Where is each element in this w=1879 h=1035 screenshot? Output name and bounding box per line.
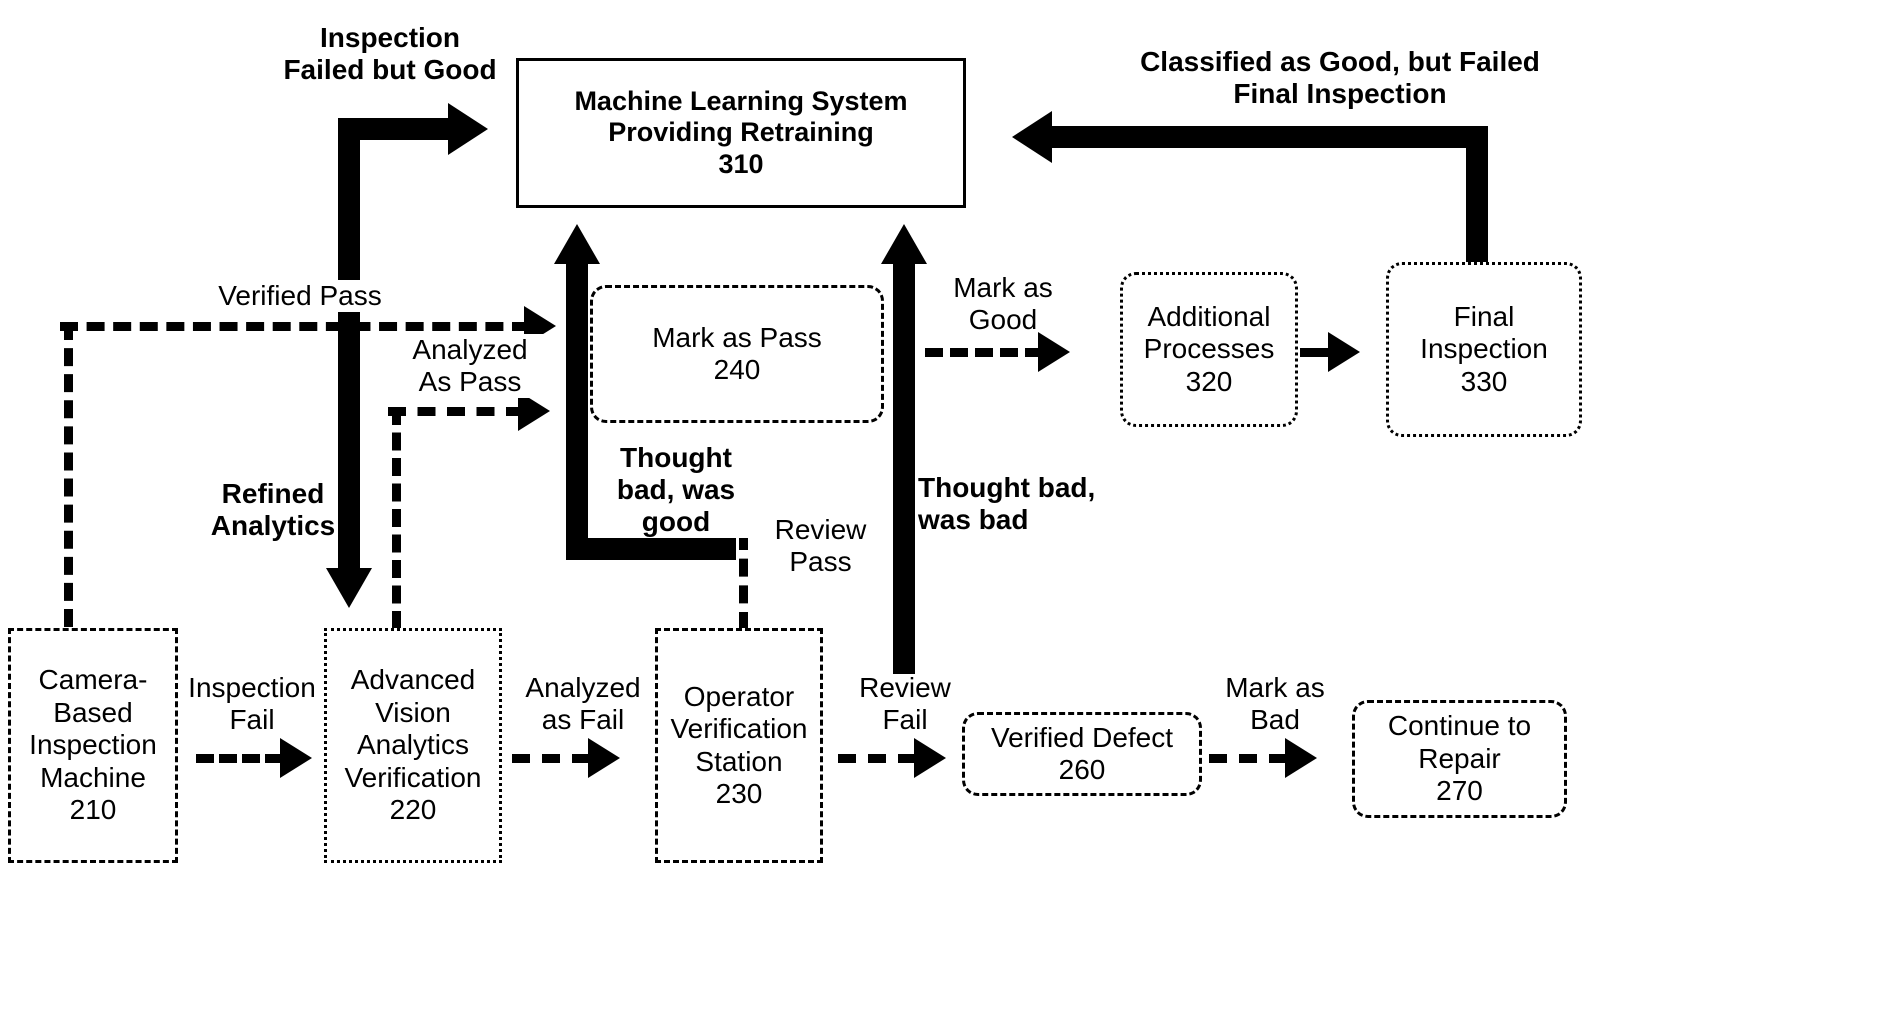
- node-final-inspection-label: Final Inspection 330: [1389, 301, 1579, 398]
- node-continue-to-repair[interactable]: Continue to Repair 270: [1352, 700, 1567, 818]
- edge-inspection-failed-but-good-arrowhead-right-icon: [448, 103, 488, 155]
- label-mark-as-bad: Mark as Bad: [1200, 672, 1350, 736]
- label-verified-pass: Verified Pass: [180, 280, 420, 312]
- edge-thought-bad-was-good-horizontal: [566, 538, 736, 560]
- label-review-fail: Review Fail: [840, 672, 970, 736]
- node-operator-verification-station-label: Operator Verification Station 230: [658, 681, 820, 811]
- edge-mark-as-bad-line: [1209, 754, 1287, 763]
- label-mark-as-good: Mark as Good: [918, 272, 1088, 336]
- node-additional-processes-label: Additional Processes 320: [1123, 301, 1295, 398]
- label-analyzed-as-fail: Analyzed as Fail: [508, 672, 658, 736]
- label-refined-analytics: Refined Analytics: [178, 478, 368, 542]
- edge-review-fail-line: [838, 754, 916, 763]
- node-verified-defect[interactable]: Verified Defect 260: [962, 712, 1202, 796]
- edge-analyzed-pass-horizontal: [388, 407, 524, 416]
- label-inspection-failed-but-good: Inspection Failed but Good: [265, 22, 515, 86]
- edge-review-fail-arrowhead-icon: [914, 738, 946, 778]
- edge-camera-to-verified-pass-vertical: [64, 322, 73, 627]
- label-thought-bad-was-good: Thought bad, was good: [596, 442, 756, 538]
- edge-analyzed-as-fail-line: [512, 754, 590, 763]
- node-mark-as-pass-label: Mark as Pass 240: [593, 322, 881, 387]
- node-mark-as-pass[interactable]: Mark as Pass 240: [590, 285, 884, 423]
- node-machine-learning-system[interactable]: Machine Learning System Providing Retrai…: [516, 58, 966, 208]
- flowchart-canvas: Machine Learning System Providing Retrai…: [0, 0, 1879, 1035]
- edge-addproc-to-final-arrowhead-icon: [1328, 332, 1360, 372]
- node-continue-to-repair-label: Continue to Repair 270: [1355, 710, 1564, 807]
- node-operator-verification-station[interactable]: Operator Verification Station 230: [655, 628, 823, 863]
- edge-analyzed-as-fail-arrowhead-icon: [588, 738, 620, 778]
- edge-thought-bad-was-good-arrowhead-up-icon: [554, 224, 600, 264]
- edge-mark-as-good-line: [925, 348, 1043, 357]
- label-inspection-fail: Inspection Fail: [182, 672, 322, 736]
- edge-inspection-fail-line: [196, 754, 283, 763]
- label-review-pass: Review Pass: [758, 514, 883, 578]
- node-camera-based-inspection-machine[interactable]: Camera- Based Inspection Machine 210: [8, 628, 178, 863]
- node-final-inspection[interactable]: Final Inspection 330: [1386, 262, 1582, 437]
- edge-addproc-to-final-line: [1300, 348, 1330, 357]
- edge-inspection-fail-arrowhead-icon: [280, 738, 312, 778]
- edge-thought-bad-was-bad-vertical: [893, 262, 915, 674]
- edge-verified-pass-horizontal: [60, 322, 530, 331]
- label-analyzed-as-pass: Analyzed As Pass: [390, 334, 550, 398]
- node-verified-defect-label: Verified Defect 260: [965, 722, 1199, 787]
- edge-mark-as-bad-arrowhead-icon: [1285, 738, 1317, 778]
- edge-thought-bad-was-bad-arrowhead-up-icon: [881, 224, 927, 264]
- edge-classified-good-failed-horizontal: [1052, 126, 1488, 148]
- edge-vision-to-analyzed-pass-vertical: [392, 407, 401, 629]
- node-camera-based-inspection-machine-label: Camera- Based Inspection Machine 210: [11, 664, 175, 826]
- node-additional-processes[interactable]: Additional Processes 320: [1120, 272, 1298, 427]
- node-machine-learning-system-label: Machine Learning System Providing Retrai…: [519, 86, 963, 180]
- node-advanced-vision-analytics-verification-label: Advanced Vision Analytics Verification 2…: [327, 664, 499, 826]
- label-classified-good-failed-final-inspection: Classified as Good, but Failed Final Ins…: [1060, 46, 1620, 110]
- node-advanced-vision-analytics-verification[interactable]: Advanced Vision Analytics Verification 2…: [324, 628, 502, 863]
- edge-inspection-failed-but-good-horizontal: [338, 118, 450, 140]
- edge-mark-as-good-arrowhead-icon: [1038, 332, 1070, 372]
- label-thought-bad-was-bad: Thought bad, was bad: [918, 472, 1128, 536]
- edge-classified-good-failed-arrowhead-left-icon: [1012, 111, 1052, 163]
- edge-thought-bad-was-good-vertical: [566, 262, 588, 550]
- edge-inspection-failed-but-good-arrowhead-down-icon: [326, 568, 372, 608]
